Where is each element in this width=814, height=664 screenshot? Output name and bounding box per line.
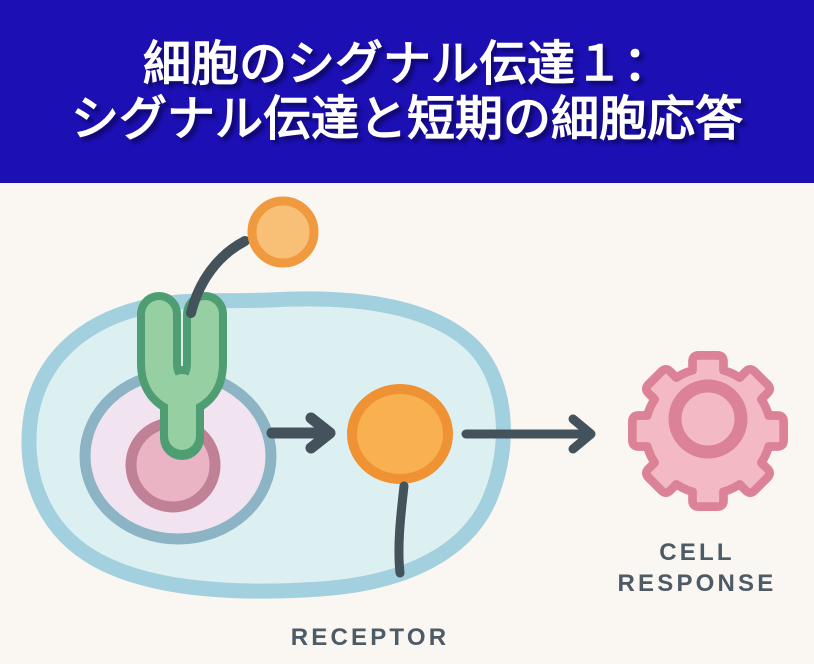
label-receptor: RECEPTOR <box>0 624 740 652</box>
label-cell-response-line1: CELL <box>580 538 814 569</box>
second-messenger-icon <box>352 389 448 479</box>
label-cell-response: CELL RESPONSE <box>580 538 814 599</box>
receptor-leader-line-icon <box>399 486 404 573</box>
cell-response-gear-icon <box>632 355 783 506</box>
slide-root: 細胞のシグナル伝達１： シグナル伝達と短期の細胞応答 <box>0 0 814 664</box>
ligand-molecule-icon <box>252 201 314 263</box>
label-cell-response-line2: RESPONSE <box>580 569 814 600</box>
title-line-2: シグナル伝達と短期の細胞応答 <box>71 92 743 147</box>
title-banner: 細胞のシグナル伝達１： シグナル伝達と短期の細胞応答 <box>0 0 814 183</box>
title-line-1: 細胞のシグナル伝達１： <box>143 37 671 92</box>
diagram-stage: RECEPTOR CELL RESPONSE <box>0 183 814 664</box>
